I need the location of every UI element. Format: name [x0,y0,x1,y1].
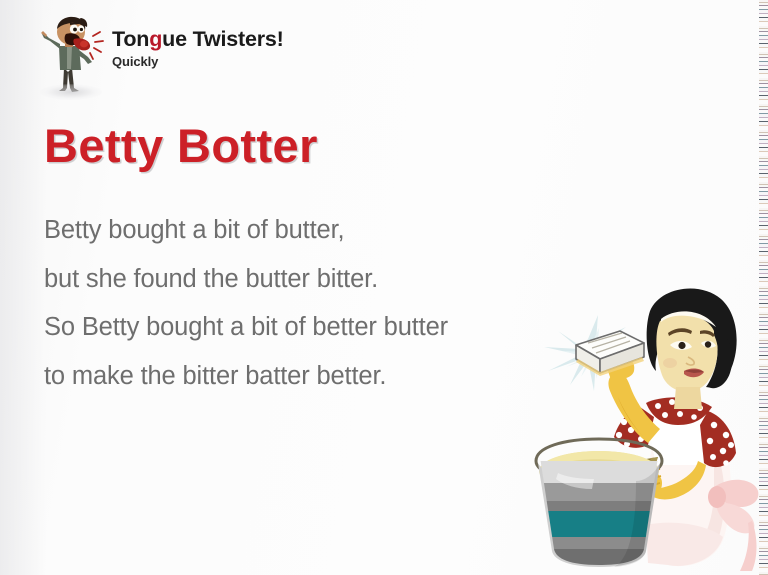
page-title: Betty Botter [44,118,318,173]
brand-title-accent-letter: g [149,27,162,51]
poem-line: So Betty bought a bit of better butter [44,303,448,352]
poem-line: Betty bought a bit of butter, [44,206,448,255]
poem-line: but she found the butter bitter. [44,255,448,304]
brand-subtitle: Quickly [112,54,284,69]
brand-title-part1: Ton [112,27,149,51]
poem-line: to make the bitter batter better. [44,352,448,401]
brand-title-part2: ue Twisters! [162,27,283,51]
slide-header: Tongue Twisters! Quickly [0,0,768,112]
slide-canvas: Tongue Twisters! Quickly Betty Botter Be… [0,0,768,575]
head [647,289,737,409]
brand-title: Tongue Twisters! [112,28,284,51]
tongue-twisters-logo [34,12,110,98]
poem-body: Betty bought a bit of butter, but she fo… [44,206,448,400]
edge-artifact-strip [759,0,768,575]
logo-shadow [40,84,102,100]
header-text-block: Tongue Twisters! Quickly [112,28,284,69]
woman-baking-with-butter-illustration [518,275,768,575]
right-sleeve [700,411,736,467]
